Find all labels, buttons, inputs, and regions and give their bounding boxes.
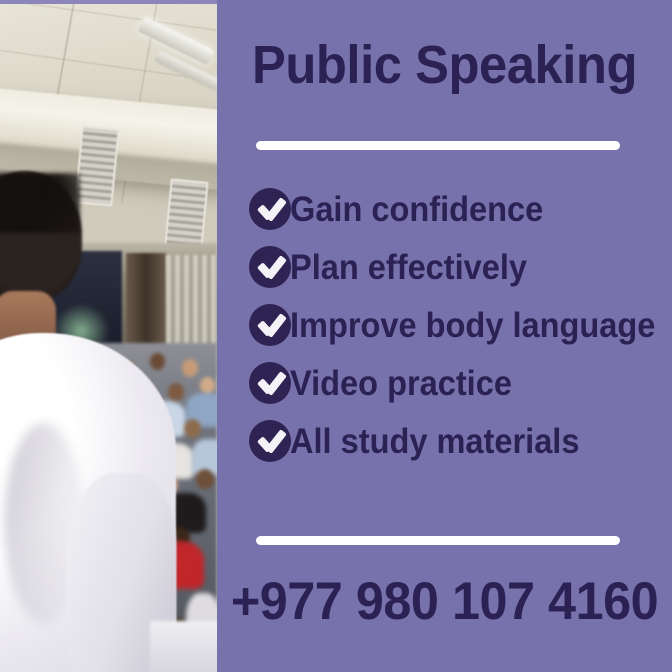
benefit-label: Plan effectively xyxy=(290,250,527,285)
speaker-photo xyxy=(0,3,217,672)
benefit-label: Gain confidence xyxy=(290,192,543,227)
list-item: All study materials xyxy=(249,412,672,470)
list-item: Gain confidence xyxy=(249,180,672,238)
list-item: Video practice xyxy=(249,354,672,412)
top-accent-strip xyxy=(0,0,217,4)
check-icon xyxy=(249,304,291,346)
benefit-label: Video practice xyxy=(290,366,512,401)
divider-top xyxy=(256,141,620,150)
front-table xyxy=(150,621,217,672)
benefits-list: Gain confidence Plan effectively Improve… xyxy=(249,180,672,470)
check-icon xyxy=(249,246,291,288)
poster-canvas: Public Speaking Gain confidence Plan eff… xyxy=(0,0,672,672)
check-icon xyxy=(249,420,291,462)
check-icon xyxy=(249,188,291,230)
page-title: Public Speaking xyxy=(231,38,659,92)
list-item: Plan effectively xyxy=(249,238,672,296)
vent-grille-1 xyxy=(74,125,119,206)
benefit-label: All study materials xyxy=(290,424,579,459)
benefit-label: Improve body language xyxy=(290,308,655,343)
list-item: Improve body language xyxy=(249,296,672,354)
contact-phone-number[interactable]: +977 980 107 4160 xyxy=(228,575,660,628)
speaker-hair-texture xyxy=(0,173,80,233)
divider-bottom xyxy=(256,536,620,545)
check-icon xyxy=(249,362,291,404)
